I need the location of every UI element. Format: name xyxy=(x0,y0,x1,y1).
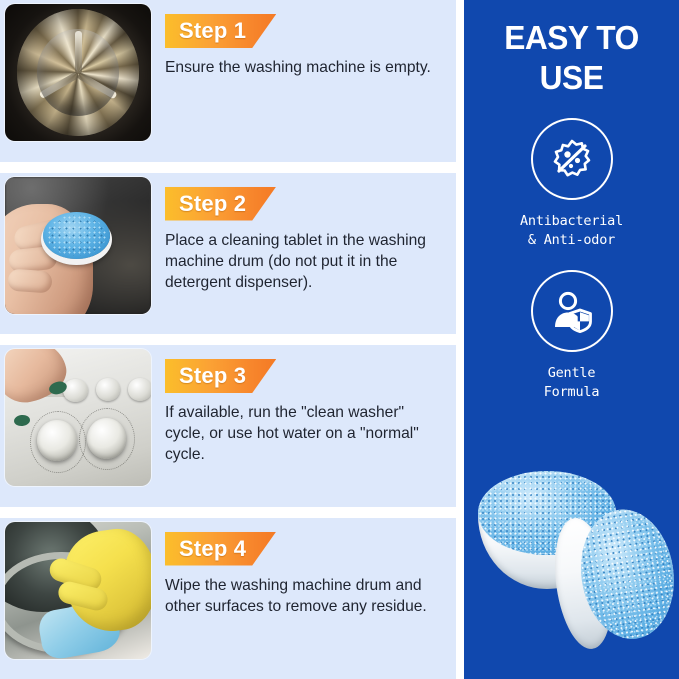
step-banner: Step 3 xyxy=(165,359,276,393)
feature-icon-ring xyxy=(531,270,613,352)
fingernail xyxy=(13,414,30,427)
feature-label: Antibacterial & Anti-odor xyxy=(464,212,679,250)
column-divider xyxy=(456,0,464,679)
washing-machine-control-panel-photo xyxy=(5,349,151,486)
person-shield-icon xyxy=(546,285,598,337)
step-row: Step 4 Wipe the washing machine drum and… xyxy=(0,518,456,679)
gloved-hand-wiping-drum-photo xyxy=(5,522,151,659)
step-description: Ensure the washing machine is empty. xyxy=(165,57,442,78)
promo-panel: EASY TO USE Antibacterial & Anti-odor xyxy=(464,0,679,679)
feature-label-line-2: Formula xyxy=(464,383,679,402)
control-button xyxy=(96,378,121,401)
tablet-front xyxy=(547,503,679,654)
feature-icon-ring xyxy=(531,118,613,200)
step-description: Wipe the washing machine drum and other … xyxy=(165,575,442,617)
step-banner: Step 4 xyxy=(165,532,276,566)
step-row: Step 1 Ensure the washing machine is emp… xyxy=(0,0,456,162)
step-banner-label: Step 1 xyxy=(179,14,246,48)
step-banner: Step 2 xyxy=(165,187,276,221)
drum-spokes xyxy=(31,23,124,122)
step-banner-label: Step 3 xyxy=(179,359,246,393)
control-button xyxy=(63,379,88,402)
control-knob xyxy=(37,420,76,461)
hand-holding-tablet-photo xyxy=(5,177,151,314)
feature-label: Gentle Formula xyxy=(464,364,679,402)
step-banner-label: Step 4 xyxy=(179,532,246,566)
finger-pressing-button xyxy=(5,349,72,408)
control-knob xyxy=(87,418,126,459)
step-body: Step 2 Place a cleaning tablet in the wa… xyxy=(151,173,456,293)
tablet-top-surface xyxy=(573,503,679,645)
control-button xyxy=(128,378,151,401)
feature-label-line-1: Gentle xyxy=(548,365,596,381)
feature-gentle-formula: Gentle Formula xyxy=(464,270,679,402)
step-description: Place a cleaning tablet in the washing m… xyxy=(165,230,442,293)
step-row: Step 2 Place a cleaning tablet in the wa… xyxy=(0,173,456,335)
washing-machine-drum-photo xyxy=(5,4,151,141)
step-row: Step 3 If available, run the "clean wash… xyxy=(0,345,456,507)
feature-label-line-1: Antibacterial xyxy=(520,213,623,229)
bacteria-slash-icon xyxy=(546,133,598,185)
step-description: If available, run the "clean washer" cyc… xyxy=(165,402,442,465)
step-banner-label: Step 2 xyxy=(179,187,246,221)
steps-column: Step 1 Ensure the washing machine is emp… xyxy=(0,0,456,679)
step-body: Step 3 If available, run the "clean wash… xyxy=(151,345,456,465)
step-body: Step 4 Wipe the washing machine drum and… xyxy=(151,518,456,617)
step-body: Step 1 Ensure the washing machine is emp… xyxy=(151,0,456,78)
step-banner: Step 1 xyxy=(165,14,276,48)
product-instruction-infographic: Step 1 Ensure the washing machine is emp… xyxy=(0,0,679,679)
feature-antibacterial: Antibacterial & Anti-odor xyxy=(464,118,679,250)
finger xyxy=(7,268,52,293)
effervescent-cleaning-tablets xyxy=(464,465,679,665)
promo-title: EASY TO USE xyxy=(468,18,674,98)
feature-label-line-2: & Anti-odor xyxy=(464,231,679,250)
cleaning-tablet xyxy=(43,212,110,259)
